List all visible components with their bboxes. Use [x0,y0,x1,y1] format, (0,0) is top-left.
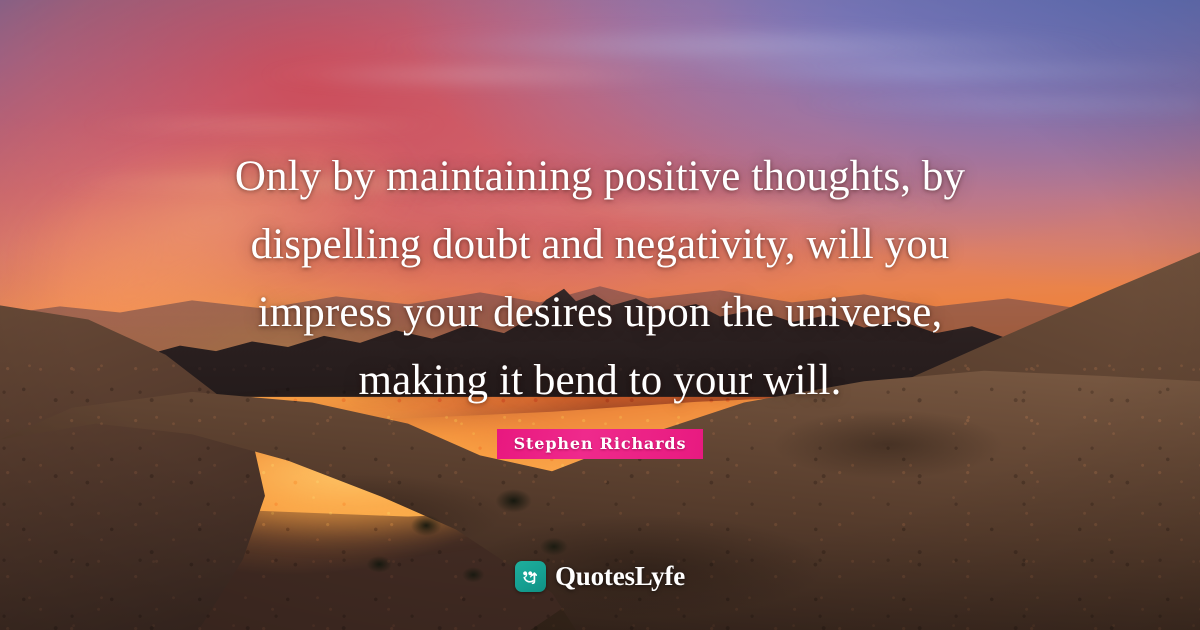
brand-name: QuotesLyfe [555,561,685,592]
quote-card: Only by maintaining positive thoughts, b… [0,0,1200,630]
author-attribution: Stephen Richards [0,429,1200,459]
quote-line-3: impress your desires upon the universe, [92,279,1108,347]
quote-smiley-icon [515,561,546,592]
quote-line-1: Only by maintaining positive thoughts, b… [92,143,1108,211]
brand-logo[interactable]: QuotesLyfe [0,561,1200,592]
quote-text-block: Only by maintaining positive thoughts, b… [0,143,1200,415]
quote-line-2: dispelling doubt and negativity, will yo… [92,211,1108,279]
author-name-badge: Stephen Richards [497,429,704,459]
quote-line-4: making it bend to your will. [92,347,1108,415]
